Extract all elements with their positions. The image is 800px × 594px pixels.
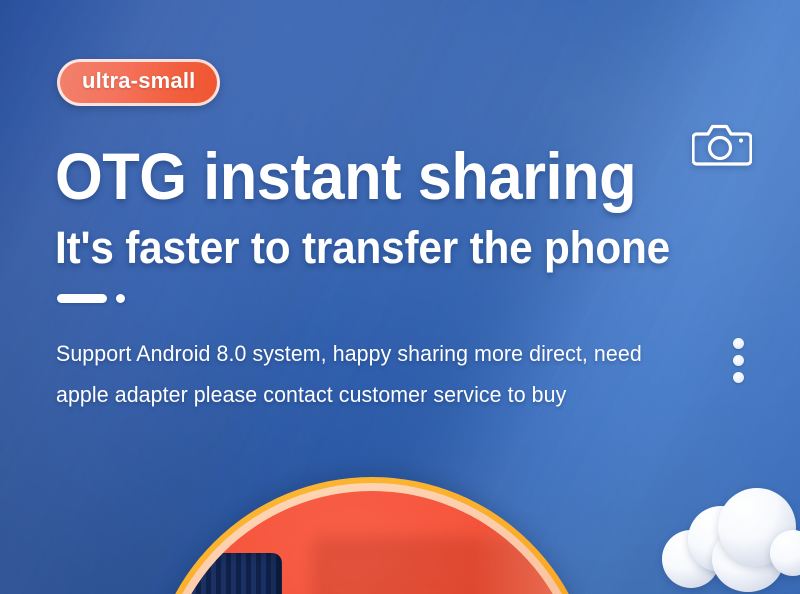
dash-dot-divider	[57, 294, 125, 303]
camera-icon	[692, 120, 752, 168]
podium-right-highlight	[472, 531, 582, 594]
device-stripes	[162, 553, 282, 594]
page-subtitle: It's faster to transfer the phone	[55, 225, 670, 270]
page-title: OTG instant sharing	[55, 143, 636, 209]
badge-label: ultra-small	[82, 68, 195, 93]
divider-dot	[116, 294, 125, 303]
kebab-dot-1	[733, 338, 744, 349]
kebab-menu-icon[interactable]	[733, 338, 744, 383]
ultra-small-badge: ultra-small	[57, 59, 220, 106]
orange-circle-podium	[148, 477, 596, 594]
3d-cloud-icon	[662, 486, 800, 594]
description-text: Support Android 8.0 system, happy sharin…	[56, 333, 677, 415]
kebab-dot-2	[733, 355, 744, 366]
promo-banner: ultra-small OTG instant sharing It's fas…	[0, 0, 800, 594]
kebab-dot-3	[733, 372, 744, 383]
divider-bar	[57, 294, 107, 303]
